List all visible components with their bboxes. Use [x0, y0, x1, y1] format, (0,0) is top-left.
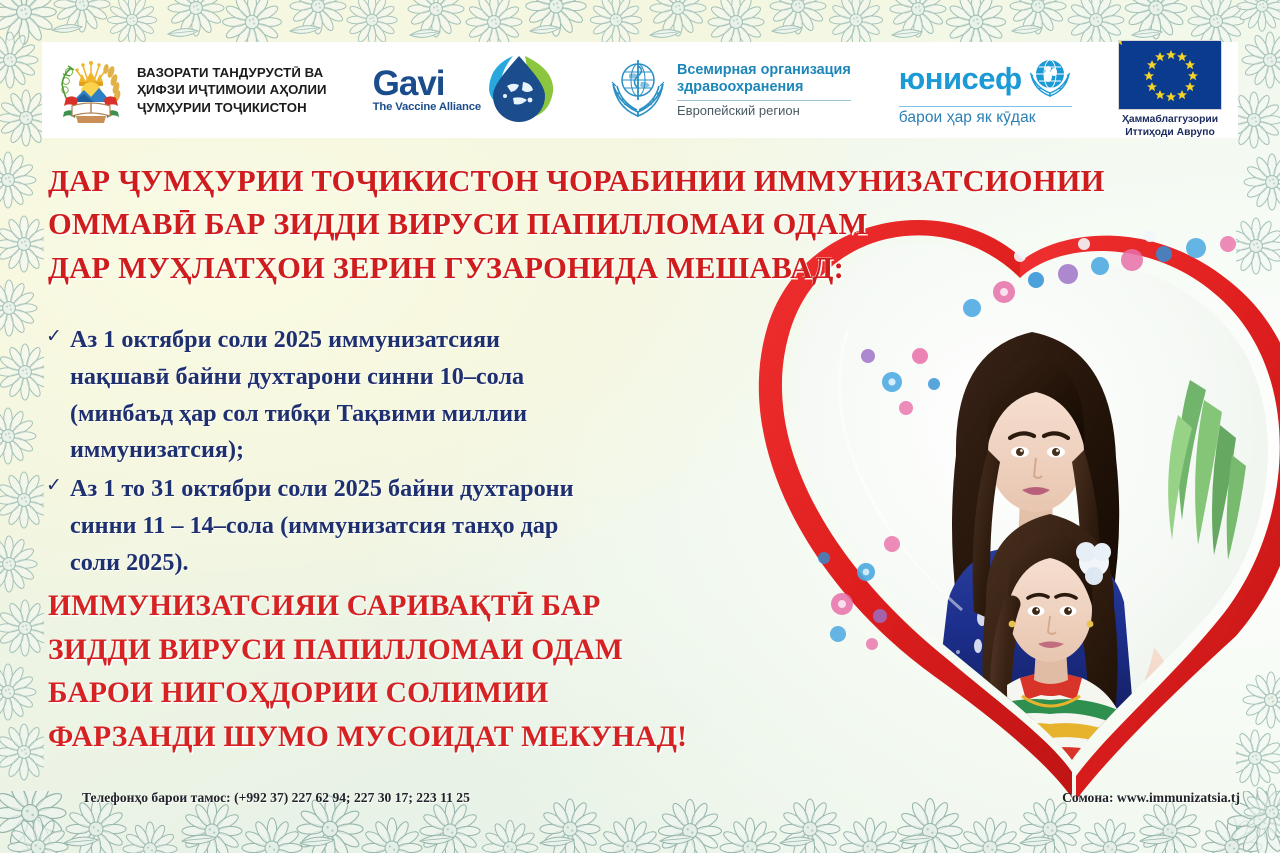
poster-canvas: ВАЗОРАТИ ТАНДУРУСТӢ ВА ҲИФЗИ ИҶТИМОИИ АҲ… — [0, 0, 1280, 853]
bullet-2-line-1: Аз 1 то 31 октябри соли 2025 байни духта… — [70, 475, 574, 502]
ministry-of-health-logo: ВАЗОРАТИ ТАНДУРУСТӢ ВА ҲИФЗИ ИҶТИМОИИ АҲ… — [54, 50, 327, 131]
check-icon: ✓ — [46, 322, 70, 469]
headline-line-1: ДАР ҶУМҲУРИИ ТОҶИКИСТОН ЧОРАБИНИИ ИММУНИ… — [48, 160, 1168, 203]
mother-daughter-photo — [720, 200, 1280, 800]
unicef-divider — [899, 106, 1072, 107]
bullet-2-text: Аз 1 то 31 октябри соли 2025 байни духта… — [70, 471, 574, 581]
unicef-logo: юнисеф — [899, 54, 1072, 127]
eu-caption-line-1: Ҳаммаблаггузории — [1122, 114, 1218, 127]
unicef-emblem-icon — [1028, 54, 1072, 103]
partner-logo-bar: ВАЗОРАТИ ТАНДУРУСТӢ ВА ҲИФЗИ ИҶТИМОИИ АҲ… — [42, 42, 1238, 138]
website-text[interactable]: Сомона: www.immunizatsia.tj — [1062, 790, 1240, 806]
slogan-line-2: ЗИДДИ ВИРУСИ ПАПИЛЛОМАИ ОДАМ — [48, 629, 748, 673]
bullet-2-line-2: синни 11 – 14–сола (иммунизатсия танҳо д… — [70, 512, 558, 539]
bullet-1-line-1: Аз 1 октябри соли 2025 иммунизатсияи — [70, 326, 500, 353]
bullet-1-line-2: нақшавӣ байни духтарони синни 10–сола — [70, 363, 524, 390]
decorative-flowers — [818, 230, 1236, 650]
main-headline: ДАР ҶУМҲУРИИ ТОҶИКИСТОН ЧОРАБИНИИ ИММУНИ… — [48, 160, 1168, 290]
bullet-1-line-4: иммунизатсия); — [70, 436, 244, 463]
gavi-droplet-globe-icon — [483, 52, 557, 129]
gavi-wordmark: Gavi — [373, 67, 445, 101]
slogan-line-3: БАРОИ НИГОҲДОРИИ СОЛИМИИ — [48, 672, 748, 716]
european-union-logo: Ҳаммаблаггузории Иттиҳоди Аврупо — [1118, 40, 1222, 140]
check-icon: ✓ — [46, 471, 70, 581]
slogan-line-1: ИММУНИЗАТСИЯИ САРИВАҚТӢ БАР — [48, 585, 748, 629]
heart-frame-stroke — [759, 220, 1280, 800]
headline-line-3: ДАР МУҲЛАТҲОИ ЗЕРИН ГУЗАРОНИДА МЕШАВАД: — [48, 247, 1168, 290]
right-daisy-border — [1236, 0, 1280, 853]
who-title-line-2: здравоохранения — [677, 79, 851, 96]
slogan-line-4: ФАРЗАНДИ ШУМО МУСОИДАТ МЕКУНАД! — [48, 716, 748, 760]
who-divider — [677, 100, 851, 101]
left-daisy-border — [0, 0, 44, 853]
closing-slogan: ИММУНИЗАТСИЯИ САРИВАҚТӢ БАР ЗИДДИ ВИРУСИ… — [48, 585, 748, 760]
who-title-line-1: Всемирная организация — [677, 62, 851, 79]
ministry-line-1: ВАЗОРАТИ ТАНДУРУСТӢ ВА — [137, 64, 327, 82]
ministry-line-3: ҶУМҲУРИИ ТОҶИКИСТОН — [137, 99, 327, 117]
schedule-bullet-list: ✓ Аз 1 октябри соли 2025 иммунизатсияи н… — [46, 322, 706, 583]
headline-line-2: ОММАВӢ БАР ЗИДДИ ВИРУСИ ПАПИЛЛОМАИ ОДАМ — [48, 203, 1168, 246]
eu-flag-icon — [1118, 40, 1222, 110]
unicef-wordmark: юнисеф — [899, 63, 1022, 94]
list-item: ✓ Аз 1 октябри соли 2025 иммунизатсияи н… — [46, 322, 706, 469]
contact-phone-text: Телефонҳо барои тамос: (+992 37) 227 62 … — [82, 790, 470, 806]
gavi-logo: Gavi The Vaccine Alliance — [373, 52, 557, 129]
bullet-1-line-3: (минбаъд ҳар сол тибқи Тақвими миллии — [70, 400, 527, 427]
unicef-tagline: барои ҳар як кӯдак — [899, 109, 1036, 127]
eu-caption-line-2: Иттиҳоди Аврупо — [1122, 127, 1218, 140]
list-item: ✓ Аз 1 то 31 октябри соли 2025 байни дух… — [46, 471, 706, 581]
who-region-label: Европейский регион — [677, 104, 851, 118]
tajikistan-state-emblem-icon — [54, 50, 128, 131]
who-emblem-icon — [607, 56, 669, 125]
heart-frame-artwork — [720, 200, 1280, 800]
gavi-tagline: The Vaccine Alliance — [373, 101, 481, 113]
ministry-line-2: ҲИФЗИ ИҶТИМОИИ АҲОЛИИ — [137, 81, 327, 99]
bullet-2-line-3: соли 2025). — [70, 549, 189, 576]
bullet-1-text: Аз 1 октябри соли 2025 иммунизатсияи нақ… — [70, 322, 527, 469]
top-daisy-border — [0, 0, 1280, 46]
who-logo: Всемирная организация здравоохранения Ев… — [607, 56, 851, 125]
